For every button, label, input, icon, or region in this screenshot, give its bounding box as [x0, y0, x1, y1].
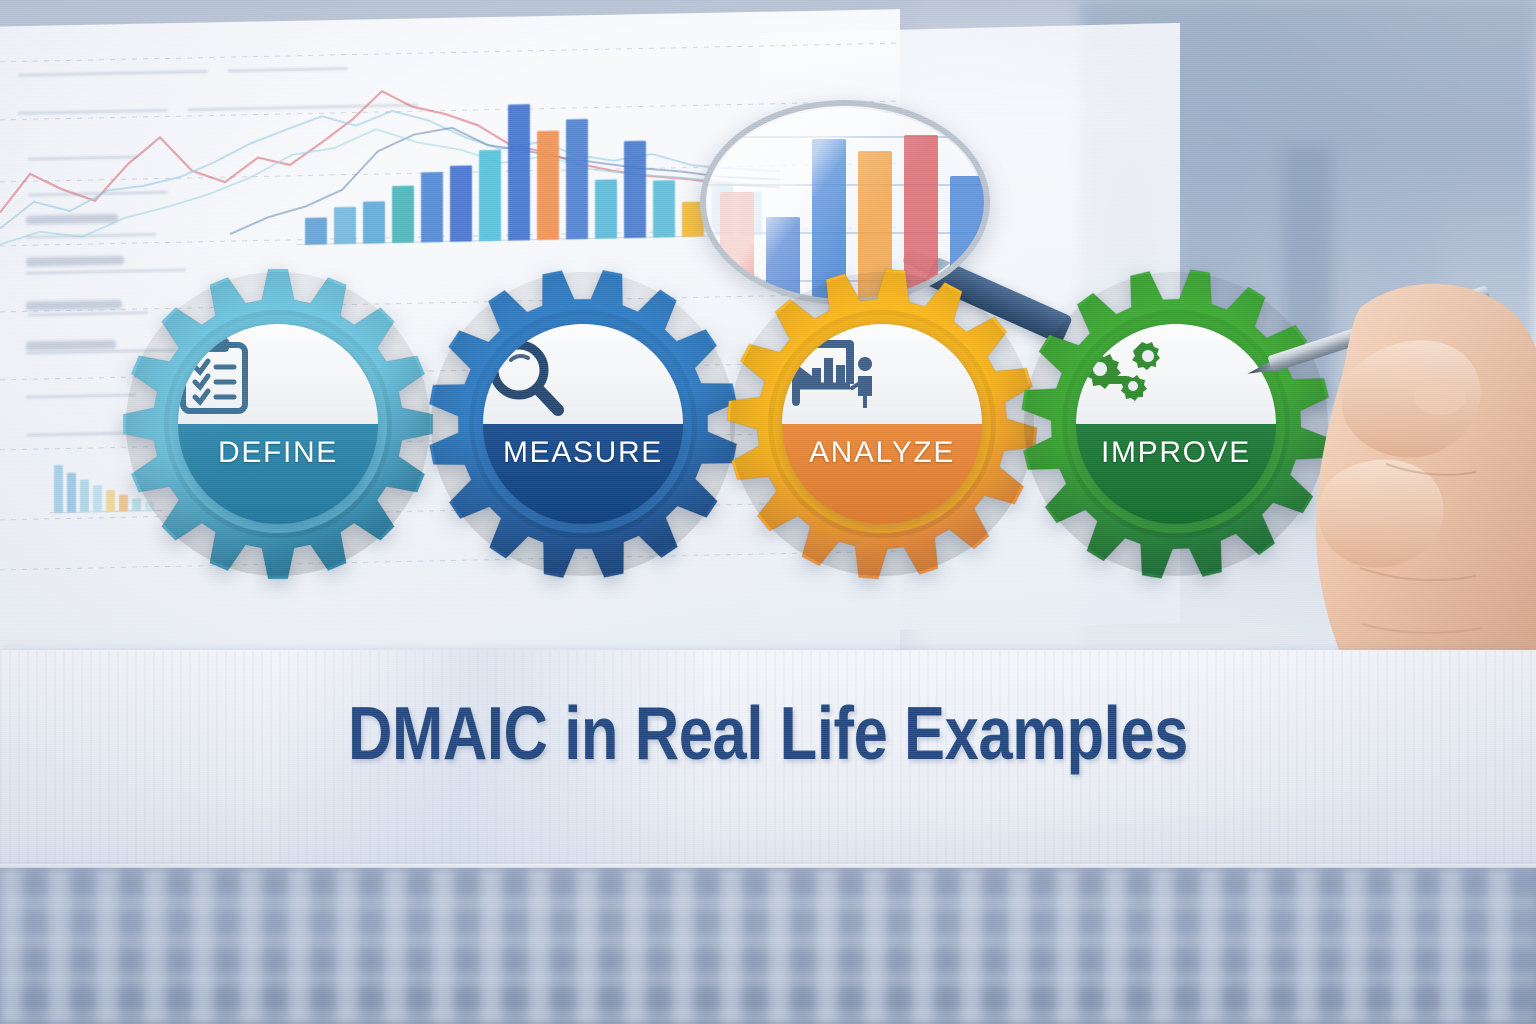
gears-cluster-icon [1076, 336, 1276, 424]
chart-bar [334, 207, 356, 244]
chart-bar [566, 119, 588, 239]
gear-label-analyze: ANALYZE [782, 436, 982, 470]
presentation-chart-icon [782, 336, 982, 424]
blurred-keyboard [0, 868, 1536, 1024]
page-title: DMAIC in Real Life Examples [138, 690, 1398, 776]
chart-bar [363, 201, 385, 243]
chart-bar [624, 141, 646, 238]
chart-bar [305, 217, 327, 244]
gear-label-measure: MEASURE [483, 436, 683, 470]
gear-face-measure[interactable]: MEASURE [483, 324, 683, 524]
gears-cluster-icon [1076, 336, 1168, 408]
gear-label-define: DEFINE [178, 436, 378, 470]
gear-improve[interactable]: IMPROVE [1018, 266, 1334, 582]
gear-label-improve: IMPROVE [1076, 436, 1276, 470]
gear-define[interactable]: DEFINE [120, 266, 436, 582]
chart-bar [450, 165, 472, 241]
chart-bar [479, 150, 501, 241]
magnified-gridline [706, 136, 984, 138]
image-canvas: DEFINE [0, 0, 1536, 1024]
chart-bar [537, 131, 559, 240]
gear-face-define[interactable]: DEFINE [178, 324, 378, 524]
clipboard-checklist-icon [178, 336, 250, 414]
chart-bar [653, 180, 675, 237]
chart-bar [421, 172, 443, 242]
clipboard-checklist-icon [178, 336, 378, 424]
magnifying-glass-icon [483, 336, 565, 418]
chart-bar [508, 104, 530, 240]
gear-measure[interactable]: MEASURE [425, 266, 741, 582]
hand-holding-pen [1290, 268, 1536, 668]
presentation-chart-icon [782, 336, 878, 410]
gear-face-improve[interactable]: IMPROVE [1076, 324, 1276, 524]
gear-face-analyze[interactable]: ANALYZE [782, 324, 982, 524]
fingernail [1414, 377, 1466, 415]
chart-bar [392, 186, 414, 243]
chart-bar [595, 179, 617, 238]
gear-analyze[interactable]: ANALYZE [724, 266, 1040, 582]
magnifying-glass-icon [483, 336, 683, 424]
